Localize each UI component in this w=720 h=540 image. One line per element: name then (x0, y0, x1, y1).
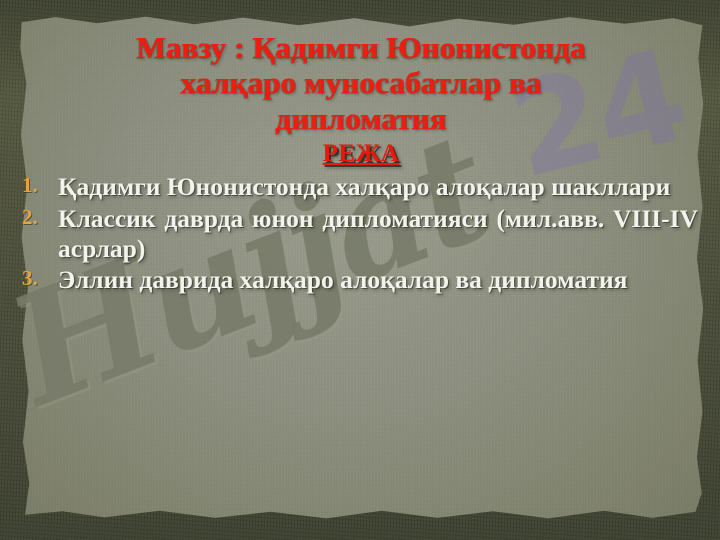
plan-item-text-1: Қадимги Юнонистонда халқаро алоқалар шак… (58, 172, 670, 201)
plan-heading: РЕЖА (14, 140, 708, 168)
slide-canvas: Hujjat 24 Мавзу : Қадимги Юнонистонда ха… (0, 0, 720, 540)
title-line-1: Мавзу : Қадимги Юнонистонда (40, 30, 682, 65)
title-line-3: дипломатия (40, 101, 682, 136)
plan-item-text-2: Классик даврда юнон дипломатияси (мил.ав… (58, 204, 698, 263)
slide-content: Мавзу : Қадимги Юнонистонда халқаро муно… (14, 12, 708, 524)
list-item: Қадимги Юнонистонда халқаро алоқалар шак… (58, 172, 698, 202)
plan-list: Қадимги Юнонистонда халқаро алоқалар шак… (14, 172, 708, 295)
list-item: Классик даврда юнон дипломатияси (мил.ав… (58, 204, 698, 264)
plan-item-text-3: Эллин даврида халқаро алоқалар ва диплом… (58, 265, 627, 294)
list-item: Эллин даврида халқаро алоқалар ва диплом… (58, 265, 698, 295)
title-line-2: халқаро муносабатлар ва (40, 65, 682, 100)
slide-title: Мавзу : Қадимги Юнонистонда халқаро муно… (14, 12, 708, 136)
